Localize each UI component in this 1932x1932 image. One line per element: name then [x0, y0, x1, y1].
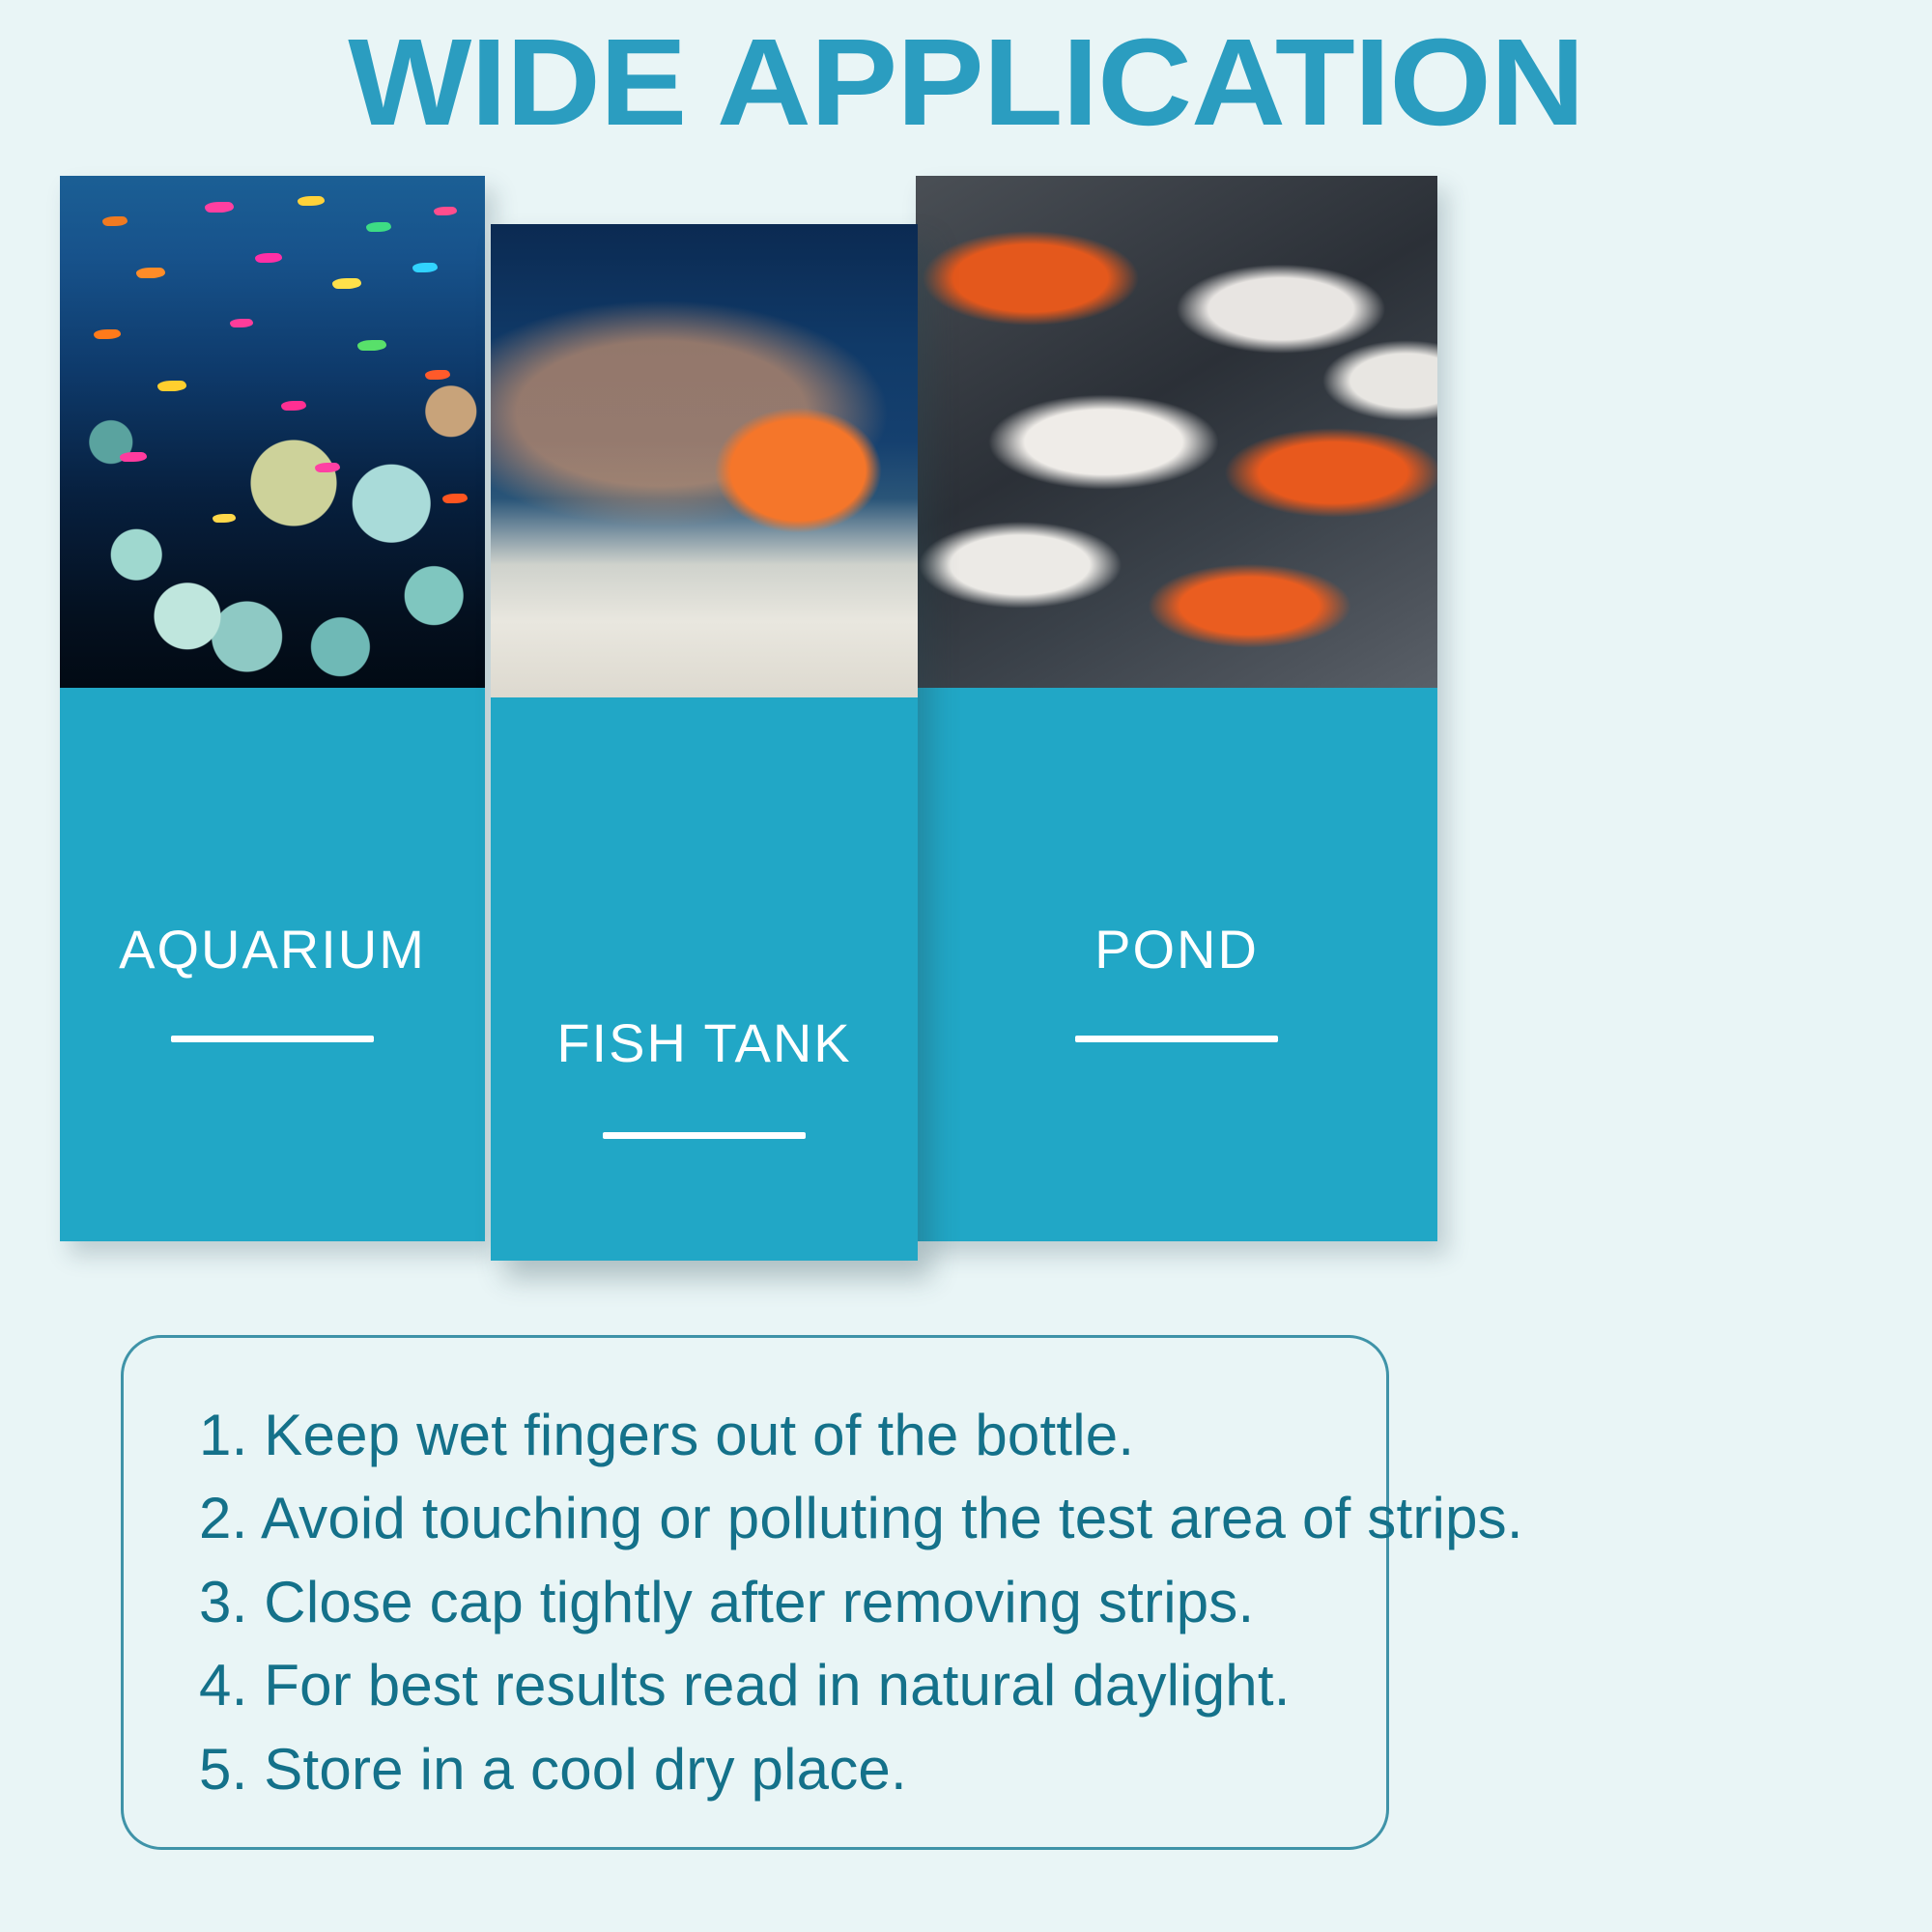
application-card-pond[interactable]: POND [916, 176, 1437, 1241]
goldfish-image [491, 224, 918, 697]
pond-card-label: POND [916, 918, 1437, 980]
list-item: 4. For best results read in natural dayl… [199, 1644, 1386, 1727]
reef-fish-overlay [60, 176, 485, 688]
fish-tank-photo [491, 224, 918, 697]
usage-notes-box: 1. Keep wet fingers out of the bottle. 2… [121, 1335, 1389, 1850]
list-item: 3. Close cap tightly after removing stri… [199, 1561, 1386, 1644]
application-card-fish-tank[interactable]: FISH TANK [491, 224, 918, 1261]
fish-tank-card-underline [603, 1132, 806, 1139]
aquarium-photo [60, 176, 485, 688]
application-card-aquarium[interactable]: AQUARIUM [60, 176, 485, 1241]
coral-reef-image [60, 176, 485, 688]
list-item: 1. Keep wet fingers out of the bottle. [199, 1394, 1386, 1477]
usage-notes-list: 1. Keep wet fingers out of the bottle. 2… [124, 1338, 1386, 1811]
list-item: 5. Store in a cool dry place. [199, 1728, 1386, 1811]
fish-tank-card-label: FISH TANK [491, 1011, 918, 1074]
application-cards: AQUARIUM POND FISH TANK [0, 0, 1932, 1285]
aquarium-card-underline [171, 1036, 374, 1042]
poster-root: WIDE APPLICATION [0, 0, 1932, 1932]
pond-photo [916, 176, 1437, 688]
aquarium-card-label: AQUARIUM [60, 918, 485, 980]
pond-card-underline [1075, 1036, 1278, 1042]
koi-pond-image [916, 176, 1437, 688]
list-item: 2. Avoid touching or polluting the test … [199, 1477, 1386, 1560]
